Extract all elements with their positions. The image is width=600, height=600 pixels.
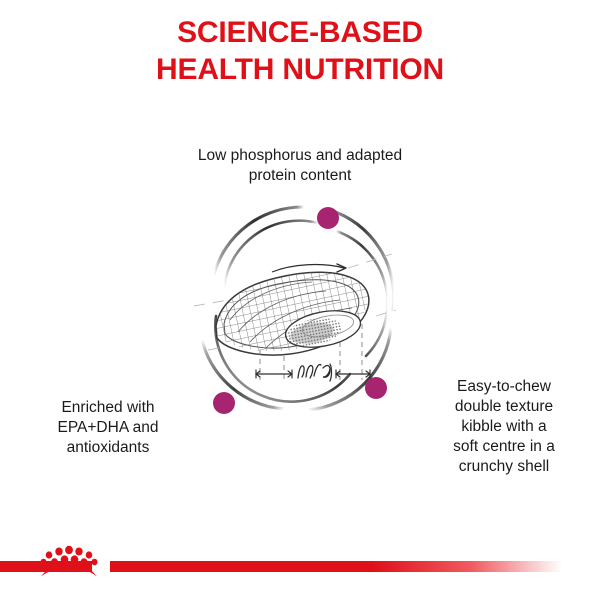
feature-caption-top: Low phosphorus and adapted protein conte…: [0, 146, 600, 186]
feature-caption-right-line-2: double texture: [418, 397, 590, 417]
feature-caption-right: Easy-to-chew double texture kibble with …: [418, 377, 590, 477]
feature-caption-top-line-2: protein content: [0, 166, 600, 186]
feature-caption-left-line-1: Enriched with: [18, 398, 198, 418]
page-title-line-2: HEALTH NUTRITION: [0, 51, 600, 88]
marker-dot-right: [365, 377, 387, 399]
marker-dot-top: [317, 207, 339, 229]
feature-caption-left-line-3: antioxidants: [18, 438, 198, 458]
feature-caption-right-line-4: soft centre in a: [418, 437, 590, 457]
kibble-sketch-illustration: [180, 198, 408, 426]
page-title: SCIENCE-BASED HEALTH NUTRITION: [0, 14, 600, 88]
feature-caption-right-line-5: crunchy shell: [418, 457, 590, 477]
footer-brand-band: [0, 556, 600, 578]
handwritten-annotation: [298, 364, 332, 381]
feature-caption-right-line-3: kibble with a: [418, 417, 590, 437]
footer-bar-right: [110, 561, 562, 572]
kibble-top-arrow: [272, 264, 346, 272]
feature-caption-left-line-2: EPA+DHA and: [18, 418, 198, 438]
feature-caption-right-line-1: Easy-to-chew: [418, 377, 590, 397]
feature-caption-top-line-1: Low phosphorus and adapted: [0, 146, 600, 166]
marker-dot-bottom-left: [213, 392, 235, 414]
royal-canin-crown-icon: [36, 540, 102, 584]
page-title-line-1: SCIENCE-BASED: [0, 14, 600, 51]
feature-caption-left: Enriched with EPA+DHA and antioxidants: [18, 398, 198, 458]
